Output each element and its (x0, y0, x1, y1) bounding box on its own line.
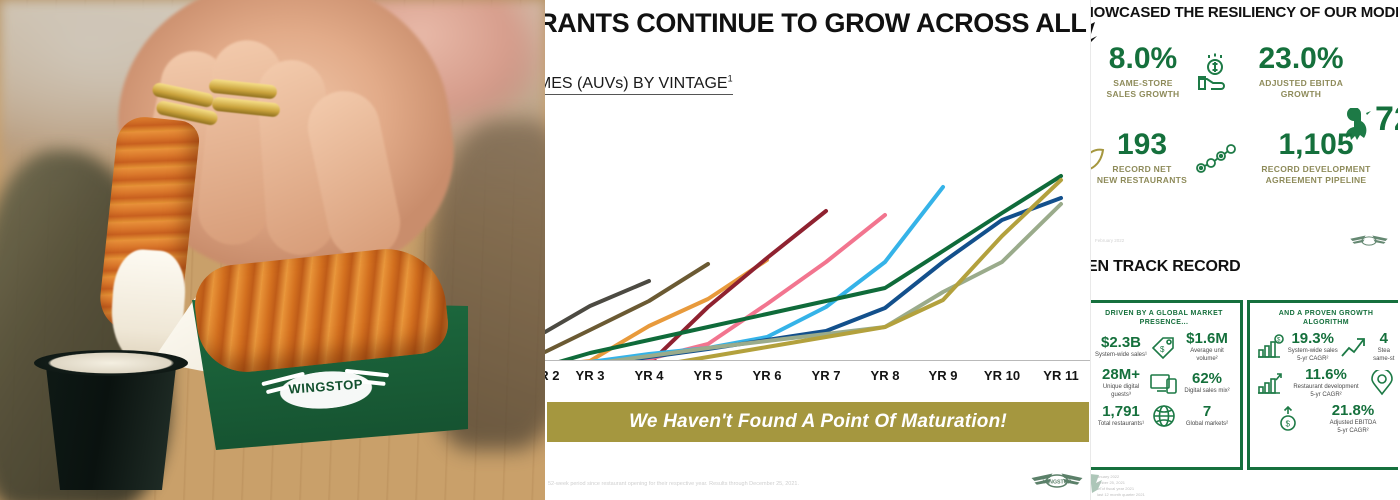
x-axis-tick-label: YR 3 (576, 368, 605, 383)
slide-subtitle: OLUMES (AUVs) BY VINTAGE1 (545, 74, 1090, 93)
metric-digital-sales-mix: 62% Digital sales mix² (1179, 371, 1235, 396)
x-axis-labels: YR 2YR 3YR 4YR 5YR 6YR 7YR 8YR 9YR 10YR … (545, 368, 1090, 392)
dip-cup-rim (34, 350, 188, 376)
metric-adjusted-ebitda-cagr: 21.8% Adjusted EBITDA 5-yr CAGR² (1309, 403, 1397, 435)
svg-text:WINGSTOP: WINGSTOP (1043, 479, 1072, 485)
metric-system-wide-sales: $2.3B System-wide sales¹ (1093, 335, 1149, 360)
slide-title: AURANTS CONTINUE TO GROW ACROSS ALL V (545, 8, 1090, 39)
globe-icon (1149, 403, 1179, 429)
maturation-banner-text: We Haven't Found A Point Of Maturation! (629, 411, 1007, 433)
x-axis-tick-label: YR 8 (871, 368, 900, 383)
proven-growth-algorithm-box: AND A PROVEN GROWTH ALGORITHM $ 19.3% Sy… (1247, 300, 1400, 470)
bar-arrow-icon (1255, 370, 1285, 396)
auv-line-chart (545, 110, 1090, 360)
subtitle-text: OLUMES (AUVs) BY VINTAGE (545, 75, 728, 92)
metric-unique-digital-guests: 28M+ Unique digital guests³ (1093, 367, 1149, 399)
metric-average-unit-volume: $1.6M Average unit volume² (1179, 331, 1235, 363)
metric-total-restaurants: 1,791 Total restaurants¹ (1093, 404, 1149, 429)
metric-row: $2.3B System-wide sales¹ $ $1.6M Average… (1090, 329, 1240, 365)
wingstop-watermark-icon (1346, 230, 1392, 252)
x-axis-line (545, 360, 1090, 361)
bar-dollar-icon: $ (1255, 334, 1285, 360)
metric-system-wide-sales-cagr: 19.3% System-wide sales 5-yr CAGR² (1285, 331, 1340, 363)
subtitle-footnote-marker: 1 (728, 74, 733, 84)
metrics-footnotes: anuary 2022 ember 25, 2021 rd of fiscal … (1097, 474, 1145, 498)
global-market-presence-box: DRIVEN BY A GLOBAL MARKET PRESENCE... $2… (1090, 300, 1243, 470)
arrow-dollar-icon: $ (1273, 406, 1303, 432)
price-tag-icon: $ (1149, 334, 1179, 360)
hand-dollar-icon (1195, 52, 1235, 92)
metric-steady-same-store: 4 Stea same-st (1370, 331, 1397, 363)
global-market-presence-heading: DRIVEN BY A GLOBAL MARKET PRESENCE... (1090, 303, 1240, 329)
track-record-boxes: DRIVEN BY A GLOBAL MARKET PRESENCE... $2… (1090, 300, 1400, 470)
metrics-headline: HOWCASED THE RESILIENCY OF OUR MODEL (1090, 4, 1400, 21)
metric-global-markets: 7 Global markets² (1179, 404, 1235, 429)
kpi-record-net-new-restaurants: 193 RECORD NET NEW RESTAURANTS (1090, 130, 1207, 185)
maturation-banner: We Haven't Found A Point Of Maturation! (547, 402, 1089, 442)
metric-restaurant-development-cagr: 11.6% Restaurant development 5-yr CAGR² (1285, 367, 1367, 399)
auv-by-vintage-slide: AURANTS CONTINUE TO GROW ACROSS ALL V OL… (545, 0, 1090, 500)
x-axis-tick-label: YR 11 (1043, 368, 1078, 383)
wingstop-logo: WINGSTOP (254, 357, 398, 423)
metric-row: 1,791 Total restaurants¹ 7 Global market… (1090, 401, 1240, 431)
x-axis-tick-label: YR 2 (545, 368, 559, 383)
x-axis-tick-label: YR 4 (635, 368, 664, 383)
kpi-same-store-sales: 8.0% SAME-STORE SALES GROWTH (1090, 44, 1203, 99)
slide-composite: WINGSTOP AURANTS CONTINUE TO GROW ACROSS… (0, 0, 1400, 500)
svg-text:$: $ (1160, 345, 1165, 354)
chart-line-vintage-e (545, 215, 885, 360)
kpi-adjusted-ebitda-growth: 23.0% ADJUSTED EBITDA GROWTH (1231, 44, 1371, 99)
location-pin-icon (1367, 370, 1397, 396)
svg-text:$: $ (1286, 420, 1291, 429)
wingstop-food-photo: WINGSTOP (0, 0, 545, 500)
x-axis-tick-label: YR 7 (812, 368, 841, 383)
trend-arrow-icon (1340, 334, 1370, 360)
investor-metrics-panel: HOWCASED THE RESILIENCY OF OUR MODEL 8.0… (1090, 0, 1400, 500)
metric-row: $ 21.8% Adjusted EBITDA 5-yr CAGR² (1250, 401, 1400, 437)
metric-row: $ 19.3% System-wide sales 5-yr CAGR² 4 (1250, 329, 1400, 365)
x-axis-tick-label: YR 10 (984, 368, 1020, 383)
metrics-date-note: February 2022 (1095, 238, 1124, 243)
proven-growth-algorithm-heading: AND A PROVEN GROWTH ALGORITHM (1250, 303, 1400, 329)
x-axis-tick-label: YR 6 (753, 368, 782, 383)
kpi-development-pipeline: 1,105 RECORD DEVELOPMENT AGREEMENT PIPEL… (1237, 130, 1395, 185)
wingstop-watermark-icon: WINGSTOP (1026, 466, 1088, 496)
chart-footnote: 52-week period since restaurant opening … (548, 481, 1028, 487)
network-icon (1195, 142, 1237, 176)
chart-line-vintage-g (545, 176, 1061, 360)
metric-row: 11.6% Restaurant development 5-yr CAGR² (1250, 365, 1400, 401)
x-axis-tick-label: YR 9 (929, 368, 958, 383)
devices-icon (1149, 370, 1179, 396)
track-record-title: EN TRACK RECORD (1090, 258, 1400, 276)
metric-row: 28M+ Unique digital guests³ 62% Digital … (1090, 365, 1240, 401)
x-axis-tick-label: YR 5 (694, 368, 723, 383)
dip-cup (36, 358, 186, 490)
